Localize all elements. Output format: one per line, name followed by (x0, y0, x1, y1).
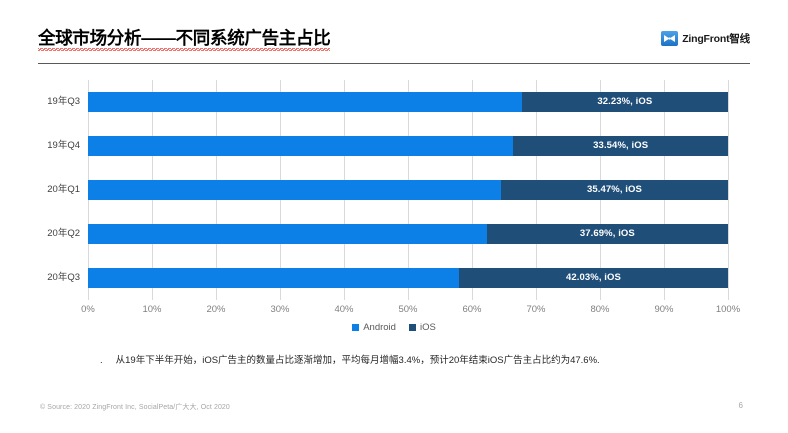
bar-segment-android (88, 92, 522, 112)
bar-data-label: 35.47%, iOS (501, 180, 728, 200)
legend-swatch (409, 324, 416, 331)
brand-logo: ZingFront智线 (661, 31, 750, 46)
bar-segment-ios: 35.47%, iOS (501, 180, 728, 200)
bar-segment-ios: 37.69%, iOS (487, 224, 728, 244)
legend-label: iOS (420, 322, 436, 333)
bar-row: 37.69%, iOS (88, 224, 728, 244)
bar-segment-android (88, 224, 487, 244)
x-tick-label: 20% (196, 304, 236, 315)
legend-label: Android (363, 322, 396, 333)
x-tick-label: 50% (388, 304, 428, 315)
chart-legend: AndroidiOS (0, 322, 788, 333)
x-tick-label: 10% (132, 304, 172, 315)
envelope-bowtie-icon (661, 31, 678, 46)
bar-segment-ios: 42.03%, iOS (459, 268, 728, 288)
x-tick-label: 40% (324, 304, 364, 315)
plot-area: 32.23%, iOS33.54%, iOS35.47%, iOS37.69%,… (88, 80, 728, 300)
bar-segment-android (88, 180, 501, 200)
header-divider (38, 63, 750, 64)
bar-data-label: 32.23%, iOS (522, 92, 728, 112)
bar-row: 42.03%, iOS (88, 268, 728, 288)
x-tick-label: 70% (516, 304, 556, 315)
bar-data-label: 42.03%, iOS (459, 268, 728, 288)
bar-row: 33.54%, iOS (88, 136, 728, 156)
category-label: 19年Q4 (0, 136, 80, 156)
bar-segment-ios: 32.23%, iOS (522, 92, 728, 112)
footnote-bullet: . (100, 353, 103, 368)
x-tick-label: 30% (260, 304, 300, 315)
footnote: . 从19年下半年开始，iOS广告主的数量占比逐渐增加，平均每月增幅3.4%，预… (100, 353, 720, 368)
brand-logo-text: ZingFront智线 (682, 31, 750, 46)
legend-item-ios[interactable]: iOS (409, 322, 436, 333)
legend-item-android[interactable]: Android (352, 322, 396, 333)
bar-segment-android (88, 136, 513, 156)
x-tick-label: 90% (644, 304, 684, 315)
legend-swatch (352, 324, 359, 331)
category-label: 19年Q3 (0, 92, 80, 112)
bar-segment-android (88, 268, 459, 288)
slide-header: 全球市场分析——不同系统广告主占比 ZingFront智线 (38, 26, 750, 64)
slide: 全球市场分析——不同系统广告主占比 ZingFront智线 32.23%, iO… (0, 0, 788, 433)
category-label: 20年Q3 (0, 268, 80, 288)
x-tick-label: 60% (452, 304, 492, 315)
source-credit: © Source: 2020 ZingFront Inc, SocialPeta… (40, 402, 230, 412)
bar-data-label: 37.69%, iOS (487, 224, 728, 244)
page-title: 全球市场分析——不同系统广告主占比 (38, 26, 330, 52)
gridline (728, 80, 729, 300)
bar-row: 35.47%, iOS (88, 180, 728, 200)
category-label: 20年Q2 (0, 224, 80, 244)
bar-segment-ios: 33.54%, iOS (513, 136, 728, 156)
bar-row: 32.23%, iOS (88, 92, 728, 112)
bar-data-label: 33.54%, iOS (513, 136, 728, 156)
page-number: 6 (739, 401, 743, 410)
footnote-text: 从19年下半年开始，iOS广告主的数量占比逐渐增加，平均每月增幅3.4%，预计2… (116, 353, 600, 368)
x-tick-label: 0% (68, 304, 108, 315)
stacked-bar-chart: 32.23%, iOS33.54%, iOS35.47%, iOS37.69%,… (0, 72, 788, 340)
x-tick-label: 80% (580, 304, 620, 315)
x-tick-label: 100% (708, 304, 748, 315)
category-label: 20年Q1 (0, 180, 80, 200)
